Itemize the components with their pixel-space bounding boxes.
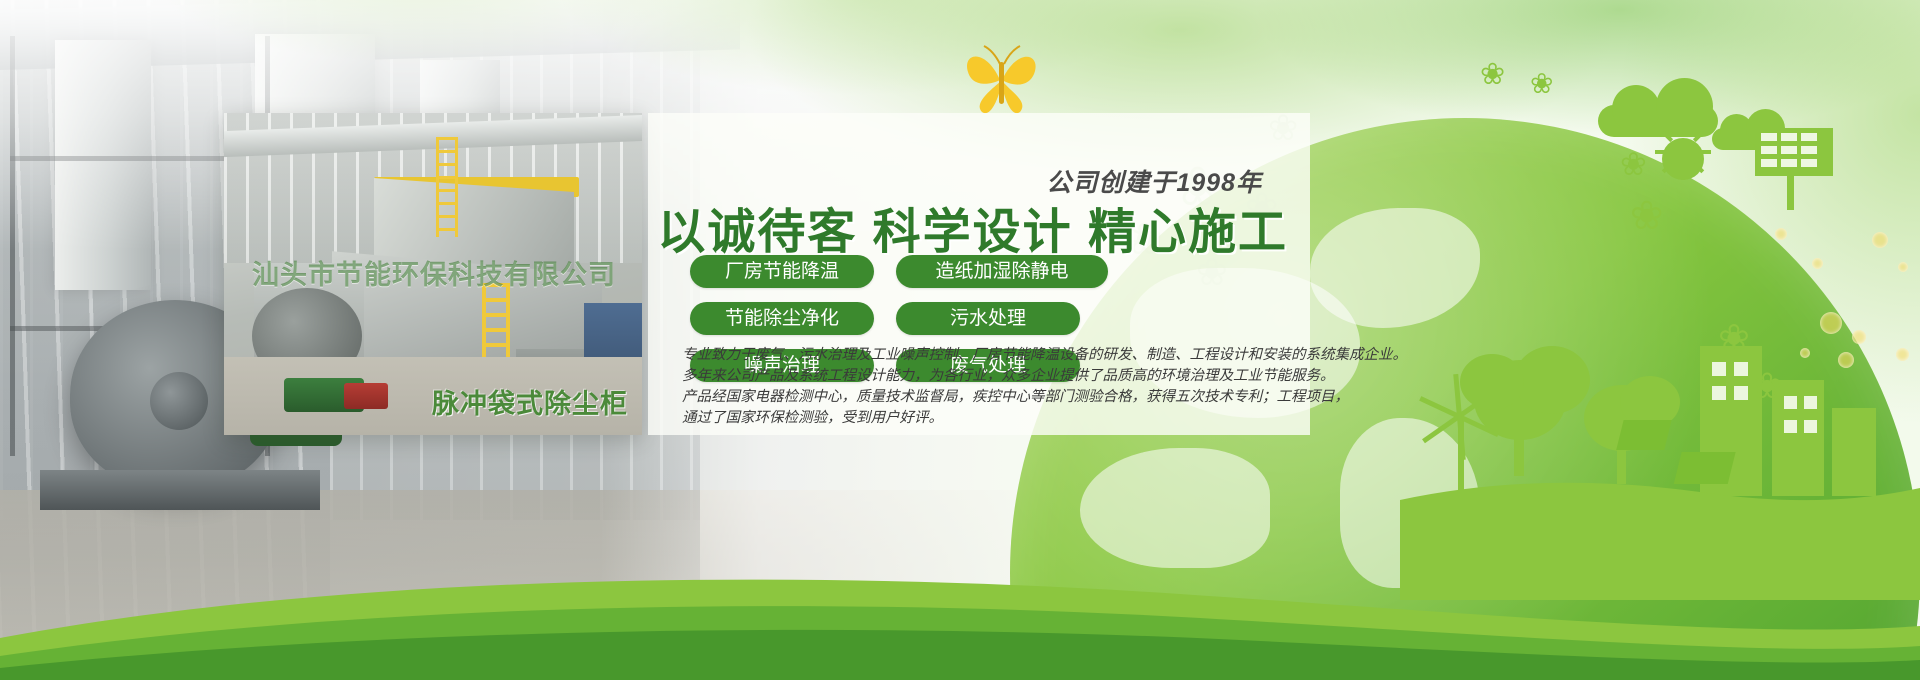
butterfly-icon-green-6: ❀ [1530, 70, 1553, 98]
bubble-icon-4 [1898, 262, 1908, 272]
service-pill-paper-humidify[interactable]: 造纸加湿除静电 [896, 255, 1108, 288]
bubble-icon-6 [1852, 330, 1866, 344]
photo-caption: 脉冲袋式除尘柜 [432, 382, 628, 421]
bubble-icon-8 [1838, 352, 1854, 368]
service-pill-dust-purify[interactable]: 节能除尘净化 [690, 302, 874, 335]
product-photo-card: 汕头市节能环保科技有限公司 脉冲袋式除尘柜 [224, 113, 642, 435]
butterfly-icon-yellow [960, 42, 1044, 116]
solar-panel-icon [1745, 118, 1920, 318]
bubble-icon-7 [1800, 348, 1810, 358]
hero-banner: ❀ ❀ ❀ ❀ ❀ ❀ ❀ ❀ ❀ ❀ ❀ [0, 0, 1920, 680]
description-line-1: 专业致力于废气、污水治理及工业噪声控制、厂房节能降温设备的研发、制造、工程设计和… [682, 345, 1322, 366]
company-description: 专业致力于废气、污水治理及工业噪声控制、厂房节能降温设备的研发、制造、工程设计和… [682, 345, 1322, 429]
photo-ladder-upper [436, 137, 458, 237]
butterfly-icon-green-1: ❀ [1620, 148, 1647, 180]
butterfly-icon-green-2: ❀ [1630, 196, 1664, 236]
description-line-2: 多年来公司产品及系统工程设计能力，为各行业，众多企业提供了品质高的环境治理及工业… [682, 366, 1322, 387]
bubble-icon-5 [1820, 312, 1842, 334]
service-pill-sewage-treatment[interactable]: 污水处理 [896, 302, 1080, 335]
butterfly-icon-green-5: ❀ [1480, 60, 1505, 90]
description-line-4: 通过了国家环保检测验，受到用户好评。 [682, 408, 1322, 429]
bubble-icon-3 [1812, 258, 1823, 269]
butterfly-icon-green-3: ❀ [1718, 320, 1750, 358]
photo-red-pump [344, 383, 388, 409]
photo-watermark: 汕头市节能环保科技有限公司 [252, 253, 632, 292]
blower-base [40, 470, 320, 510]
bubble-icon-2 [1872, 232, 1888, 248]
bottom-green-ribbon [0, 560, 1920, 680]
bubble-icon-9 [1896, 348, 1909, 361]
bubble-icon-1 [1775, 228, 1787, 240]
headline-slogan: 以诚待客 科学设计 精心施工 [648, 192, 1288, 262]
description-line-3: 产品经国家电器检测中心，质量技术监督局，疾控中心等部门测验合格，获得五次技术专利… [682, 387, 1322, 408]
globe-landmass-c [1080, 448, 1270, 568]
service-pill-factory-cooling[interactable]: 厂房节能降温 [690, 255, 874, 288]
blower-hub [150, 372, 208, 430]
butterfly-icon-green-4: ❀ [1752, 368, 1782, 404]
